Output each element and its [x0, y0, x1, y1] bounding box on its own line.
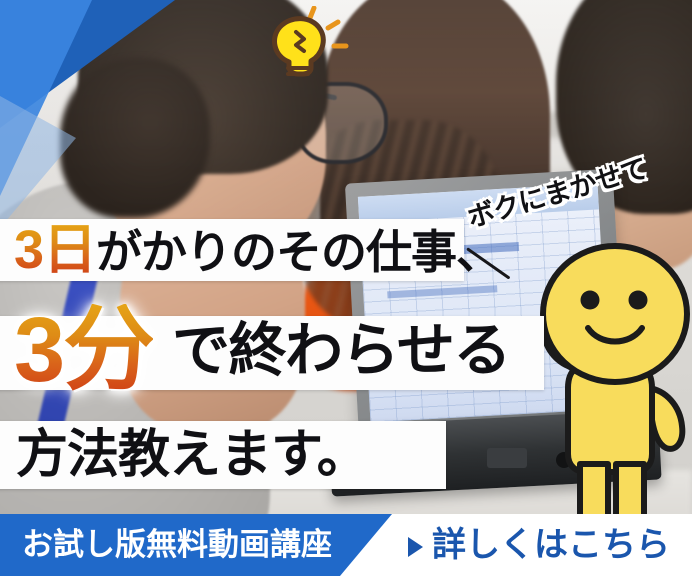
headline-highlight-2-wrap: 3分	[14, 296, 155, 388]
headline-line-3: 方法教えます。	[16, 429, 368, 481]
man-hair-shadow	[60, 58, 210, 218]
headline-highlight-1: 3日	[14, 223, 96, 277]
headline-band-3: 方法教えます。	[0, 421, 446, 489]
cta-badge-label: お試し版無料動画講座	[22, 524, 332, 566]
cta-details-link[interactable]: 詳しくはこちら	[408, 522, 670, 568]
cta-link-label: 詳しくはこちら	[432, 522, 670, 568]
cta-bar[interactable]: お試し版無料動画講座 詳しくはこちら	[0, 514, 692, 576]
promo-banner: ボクにまかせて 3日がかりのその仕事、 3	[0, 0, 692, 576]
headline-line-1: 3日がかりのその仕事、	[14, 223, 501, 277]
headline-rest-1: がかりのその仕事、	[96, 226, 501, 278]
lightbulb-icon	[258, 6, 350, 84]
headline-highlight-2: 3分	[14, 304, 153, 396]
play-triangle-icon	[408, 537, 423, 557]
headline-band-1: 3日がかりのその仕事、	[0, 219, 464, 281]
headline-rest-2: で終わらせる	[172, 322, 510, 380]
